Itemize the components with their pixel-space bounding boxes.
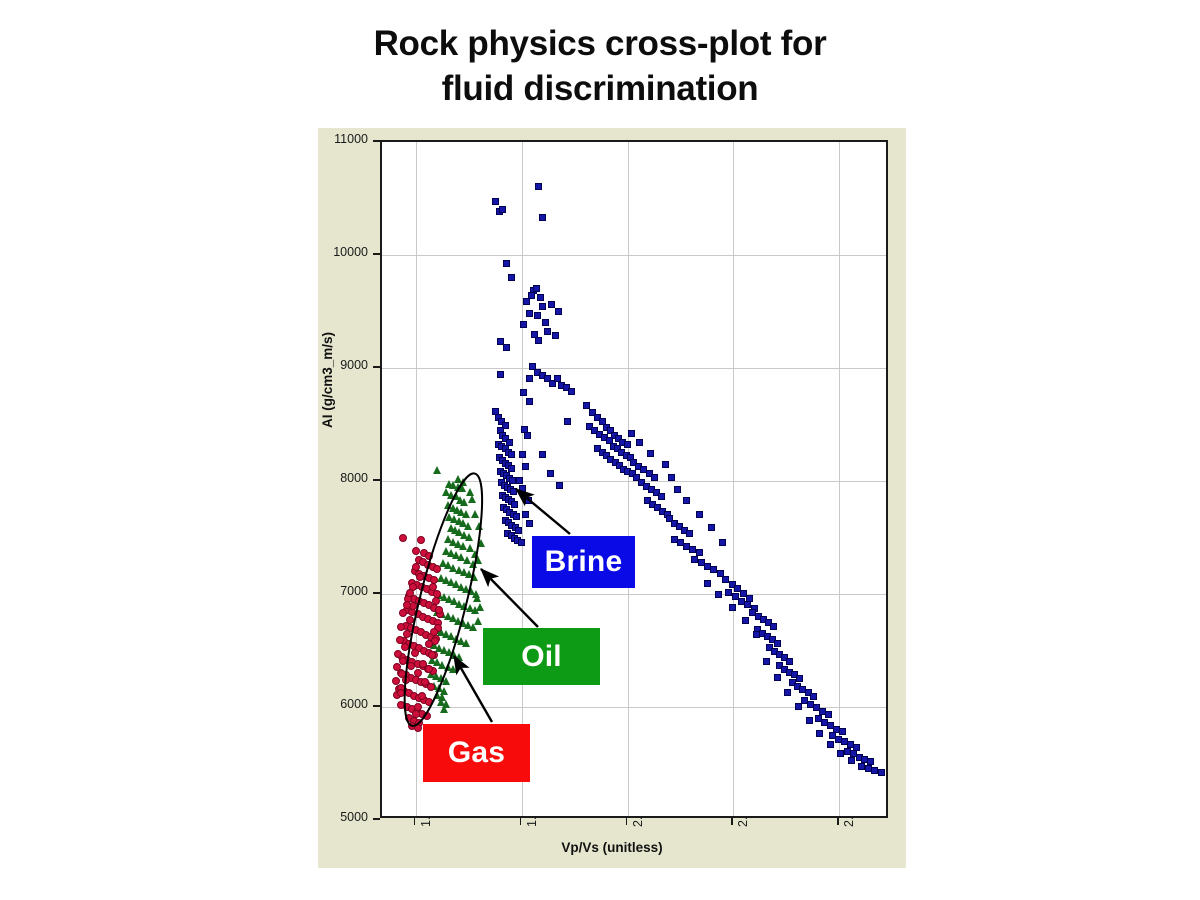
slide-root: Rock physics cross-plot for fluid discri… bbox=[0, 0, 1200, 900]
x-tick-mark bbox=[626, 818, 628, 825]
y-tick-mark bbox=[373, 818, 380, 820]
y-tick-label: 11000 bbox=[318, 132, 368, 146]
x-tick-mark bbox=[414, 818, 416, 825]
y-tick-label: 10000 bbox=[318, 245, 368, 259]
callout-gas[interactable]: Gas bbox=[423, 724, 530, 782]
y-tick-label: 8000 bbox=[318, 471, 368, 485]
y-tick-mark bbox=[373, 366, 380, 368]
highlight-ellipse-layer bbox=[382, 142, 888, 818]
y-tick-label: 6000 bbox=[318, 697, 368, 711]
y-tick-label: 5000 bbox=[318, 810, 368, 824]
y-tick-label: 7000 bbox=[318, 584, 368, 598]
x-axis-label: Vp/Vs (unitless) bbox=[318, 840, 906, 855]
x-tick-mark bbox=[520, 818, 522, 825]
plot-area bbox=[380, 140, 888, 818]
y-tick-mark bbox=[373, 253, 380, 255]
x-tick-mark bbox=[731, 818, 733, 825]
y-tick-label: 9000 bbox=[318, 358, 368, 372]
title-line-1: Rock physics cross-plot for bbox=[0, 22, 1200, 67]
callout-brine[interactable]: Brine bbox=[532, 536, 635, 588]
y-tick-mark bbox=[373, 705, 380, 707]
highlight-ellipse bbox=[389, 468, 497, 731]
y-axis-label: AI (g/cm3_m/s) bbox=[320, 332, 335, 428]
y-tick-mark bbox=[373, 140, 380, 142]
callout-oil[interactable]: Oil bbox=[483, 628, 600, 685]
y-tick-mark bbox=[373, 479, 380, 481]
x-tick-mark bbox=[837, 818, 839, 825]
page-title: Rock physics cross-plot for fluid discri… bbox=[0, 22, 1200, 112]
chart-panel: AI (g/cm3_m/s) Vp/Vs (unitless) 50006000… bbox=[318, 128, 906, 868]
title-line-2: fluid discrimination bbox=[0, 67, 1200, 112]
y-tick-mark bbox=[373, 592, 380, 594]
